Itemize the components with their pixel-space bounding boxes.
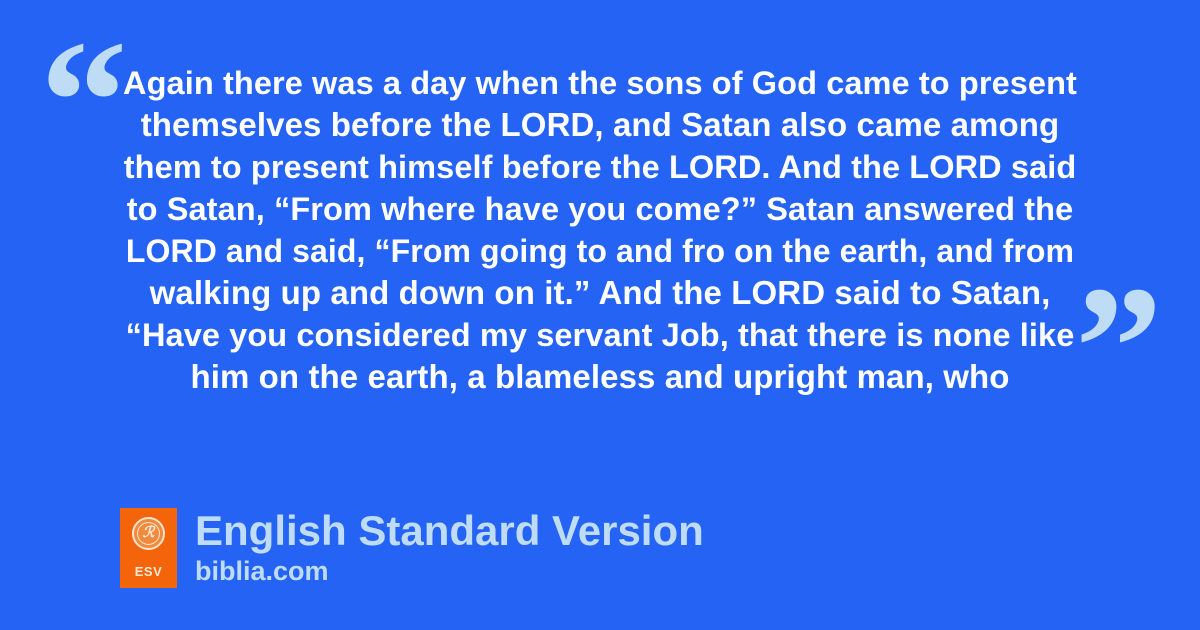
verse-text-block: Again there was a day when the sons of G…	[120, 62, 1080, 398]
verse-line: him on the earth, a blameless and uprigh…	[120, 356, 1080, 398]
attribution-block: ℛ ESV English Standard Version biblia.co…	[120, 508, 704, 588]
verse-line: “Have you considered my servant Job, tha…	[120, 314, 1080, 356]
esv-logo-badge: ℛ ESV	[120, 508, 177, 588]
verse-line: to Satan, “From where have you come?” Sa…	[120, 188, 1080, 230]
verse-line: Again there was a day when the sons of G…	[120, 62, 1080, 104]
esv-seal-monogram: ℛ	[143, 526, 155, 541]
attribution-text-group: English Standard Version biblia.com	[195, 508, 704, 586]
verse-line: walking up and down on it.” And the LORD…	[120, 272, 1080, 314]
verse-line: themselves before the LORD, and Satan al…	[120, 104, 1080, 146]
verse-line: LORD and said, “From going to and fro on…	[120, 230, 1080, 272]
site-url-label: biblia.com	[195, 556, 704, 586]
esv-abbreviation-label: ESV	[135, 564, 163, 579]
close-quote-icon: ”	[1075, 260, 1161, 435]
verse-line: them to present himself before the LORD.…	[120, 146, 1080, 188]
bible-version-title: English Standard Version	[195, 508, 704, 554]
bible-verse-card: “ ” Again there was a day when the sons …	[0, 0, 1200, 630]
open-quote-icon: “	[40, 14, 126, 189]
esv-seal-icon: ℛ	[132, 517, 165, 550]
